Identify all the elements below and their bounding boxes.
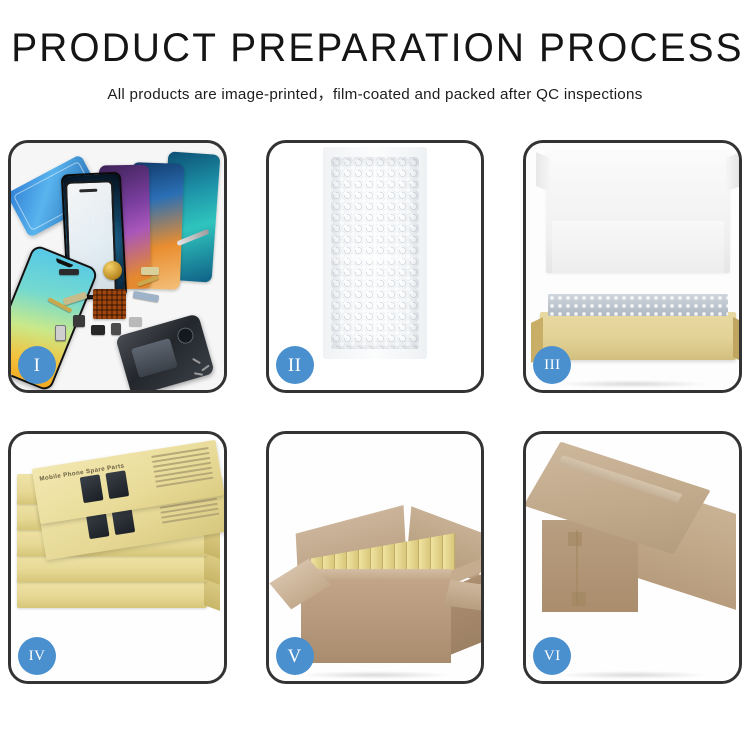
chip-part	[141, 267, 159, 275]
step-badge-1: I	[18, 346, 56, 384]
step-panel-1[interactable]: I	[8, 140, 227, 393]
step-panel-3[interactable]: III	[523, 140, 742, 393]
bubble-wrapped-items	[548, 294, 728, 316]
box-screen-image	[105, 470, 129, 499]
chip-part	[59, 269, 79, 275]
carton-tab	[572, 592, 586, 606]
step-numeral: VI	[544, 649, 561, 664]
chip-part	[55, 325, 66, 341]
chip-part	[91, 325, 105, 335]
carton-tab	[568, 532, 582, 546]
chip-part	[129, 317, 142, 326]
page-subtitle: All products are image-printed，film-coat…	[0, 82, 750, 104]
step-badge-4: IV	[18, 637, 56, 675]
drop-shadow	[298, 671, 451, 679]
retail-box	[17, 578, 207, 608]
step-numeral: IV	[29, 649, 46, 664]
process-steps-grid: I II	[8, 140, 742, 684]
cream-box-tray	[540, 312, 736, 360]
copper-mesh-part	[93, 289, 126, 319]
tray-right-lip	[733, 317, 739, 363]
step-numeral: III	[544, 358, 561, 373]
step-panel-6[interactable]: VI	[523, 431, 742, 684]
screws-group	[192, 358, 218, 378]
page-title: PRODUCT PREPARATION PROCESS	[11, 28, 739, 68]
step-badge-2: II	[276, 346, 314, 384]
chip-part	[111, 323, 121, 335]
drop-shadow	[556, 671, 709, 679]
foam-liner	[552, 221, 724, 273]
bubble-wrap-sleeve	[331, 157, 419, 349]
drop-shadow	[556, 380, 709, 388]
step-badge-5: V	[276, 637, 314, 675]
chip-part	[133, 291, 160, 302]
wrap-seam	[327, 255, 423, 261]
step-panel-2[interactable]: II	[266, 140, 485, 393]
product-preparation-process-infographic: PRODUCT PREPARATION PROCESS All products…	[0, 0, 750, 750]
box-screen-image	[80, 474, 104, 503]
step-panel-5[interactable]: V	[266, 431, 485, 684]
step-numeral: II	[288, 356, 302, 375]
box-spec-lines	[151, 447, 215, 496]
open-brown-carton	[301, 579, 451, 663]
chip-part	[73, 315, 85, 327]
stacked-boxes: Mobile Phone Spare Parts Mobile Phone Sp…	[17, 460, 224, 640]
step-numeral: I	[34, 356, 41, 375]
step-numeral: V	[288, 647, 302, 666]
step-panel-4[interactable]: Mobile Phone Spare Parts Mobile Phone Sp…	[8, 431, 227, 684]
gold-coil-part	[103, 261, 122, 280]
header: PRODUCT PREPARATION PROCESS All products…	[0, 28, 750, 104]
